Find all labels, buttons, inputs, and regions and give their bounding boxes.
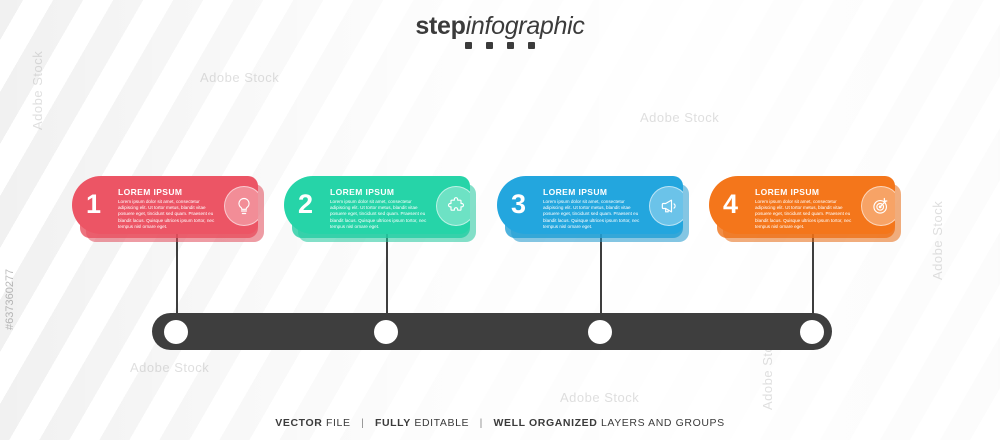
- step-card-2[interactable]: 2 LOREM IPSUM Lorem ipsum dolor sit amet…: [284, 176, 476, 234]
- connector-line-3: [600, 234, 602, 320]
- dot: [486, 42, 493, 49]
- card-body: 4 LOREM IPSUM Lorem ipsum dolor sit amet…: [709, 176, 895, 234]
- lightbulb-icon: [224, 186, 258, 226]
- title-light: infographic: [466, 12, 585, 40]
- step-number: 3: [511, 189, 526, 219]
- footer-item3-light: LAYERS AND GROUPS: [601, 417, 725, 429]
- timeline-bar: [152, 313, 832, 350]
- footer-item2-bold: FULLY: [375, 417, 411, 429]
- step-description: Lorem ipsum dolor sit amet, consectetur …: [755, 199, 853, 230]
- step-card-1[interactable]: 1 LOREM IPSUM Lorem ipsum dolor sit amet…: [72, 176, 264, 234]
- dot: [507, 42, 514, 49]
- footer-item3-bold: WELL ORGANIZED: [494, 417, 598, 429]
- connector-line-1: [176, 234, 178, 320]
- megaphone-icon: [649, 186, 683, 226]
- step-description: Lorem ipsum dolor sit amet, consectetur …: [118, 199, 216, 230]
- timeline-node-1[interactable]: [164, 320, 188, 344]
- step-description: Lorem ipsum dolor sit amet, consectetur …: [330, 199, 428, 230]
- footer-item2-light: EDITABLE: [414, 417, 469, 429]
- step-card-4[interactable]: 4 LOREM IPSUM Lorem ipsum dolor sit amet…: [709, 176, 901, 234]
- target-icon: [861, 186, 895, 226]
- step-number: 2: [298, 189, 313, 219]
- step-number: 4: [723, 189, 738, 219]
- timeline-node-2[interactable]: [374, 320, 398, 344]
- card-body: 2 LOREM IPSUM Lorem ipsum dolor sit amet…: [284, 176, 470, 234]
- card-body: 1 LOREM IPSUM Lorem ipsum dolor sit amet…: [72, 176, 258, 234]
- page-title: stepinfographic: [0, 12, 1000, 41]
- connector-line-4: [812, 234, 814, 320]
- dot: [528, 42, 535, 49]
- footer-item1-bold: VECTOR: [275, 417, 322, 429]
- step-card-3[interactable]: 3 LOREM IPSUM Lorem ipsum dolor sit amet…: [497, 176, 689, 234]
- connector-line-2: [386, 234, 388, 320]
- footer-item1-light: FILE: [326, 417, 351, 429]
- title-dots: [0, 42, 1000, 49]
- step-heading: LOREM IPSUM: [543, 187, 607, 197]
- footer-note: VECTOR FILE | FULLY EDITABLE | WELL ORGA…: [0, 417, 1000, 429]
- timeline-node-3[interactable]: [588, 320, 612, 344]
- puzzle-icon: [436, 186, 470, 226]
- step-heading: LOREM IPSUM: [755, 187, 819, 197]
- step-heading: LOREM IPSUM: [330, 187, 394, 197]
- title-bold: step: [415, 12, 465, 40]
- step-description: Lorem ipsum dolor sit amet, consectetur …: [543, 199, 641, 230]
- dot: [465, 42, 472, 49]
- step-heading: LOREM IPSUM: [118, 187, 182, 197]
- timeline-node-4[interactable]: [800, 320, 824, 344]
- card-body: 3 LOREM IPSUM Lorem ipsum dolor sit amet…: [497, 176, 683, 234]
- step-number: 1: [86, 189, 101, 219]
- footer-separator: |: [361, 417, 364, 429]
- footer-separator: |: [480, 417, 483, 429]
